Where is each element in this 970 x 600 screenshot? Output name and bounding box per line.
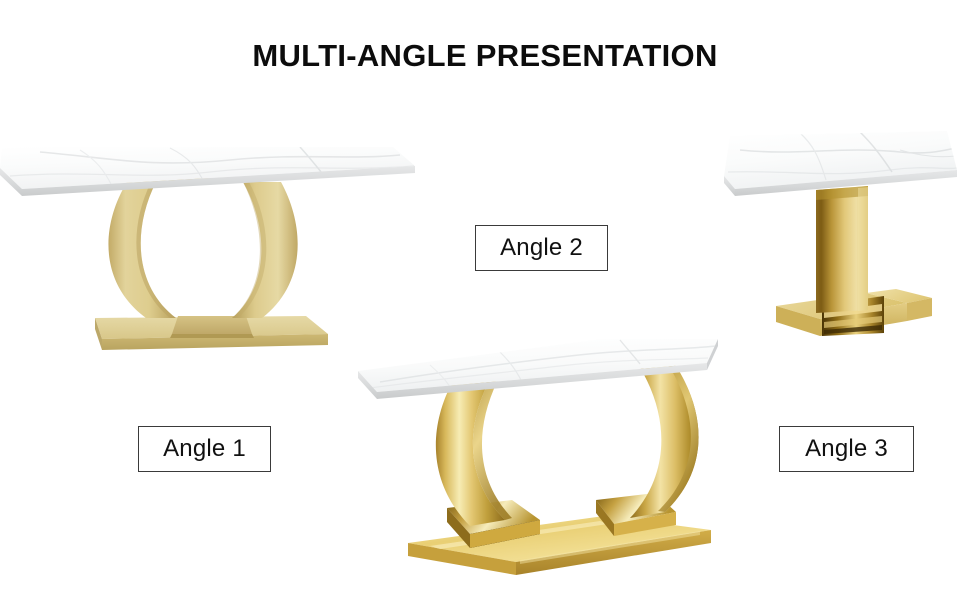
- table-1-arc-left: [108, 182, 176, 318]
- angle-3-label-text: Angle 3: [805, 435, 888, 463]
- table-1-marble-top: [0, 147, 415, 196]
- table-angle-2: [358, 339, 718, 575]
- angle-1-label-box: Angle 1: [138, 426, 271, 472]
- table-angle-1: [0, 147, 415, 350]
- table-3-column: [816, 186, 868, 313]
- product-illustrations: [0, 0, 970, 600]
- angle-2-label-text: Angle 2: [500, 234, 583, 262]
- table-1-pedestal: [170, 316, 254, 338]
- angle-2-label-box: Angle 2: [475, 225, 608, 271]
- table-angle-3: [724, 131, 957, 336]
- angle-3-label-box: Angle 3: [779, 426, 914, 472]
- angle-1-label-text: Angle 1: [163, 435, 246, 463]
- table-3-marble-top: [724, 131, 957, 196]
- presentation-canvas: MULTI-ANGLE PRESENTATION: [0, 0, 970, 600]
